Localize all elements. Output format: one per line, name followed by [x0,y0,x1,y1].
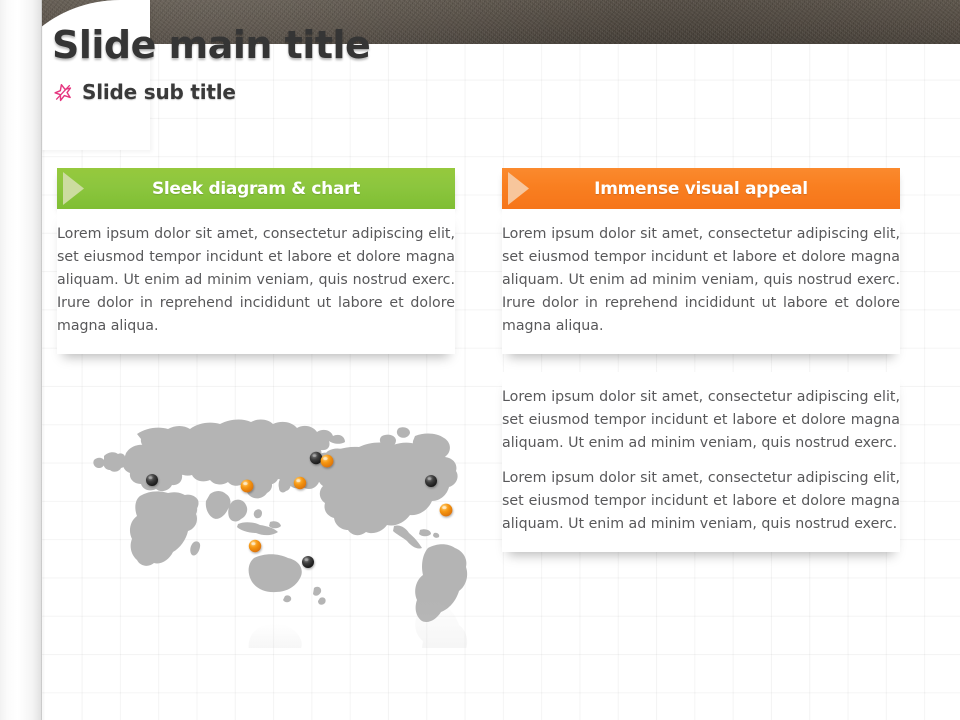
title-block: Slide main title Slide sub title [52,26,370,104]
map-pin-dark [310,452,322,464]
map-pin-orange [294,477,306,489]
right-text-card-1: Lorem ipsum dolor sit amet, consectetur … [502,209,900,354]
map-pin-dark [302,556,314,568]
world-map [42,398,488,648]
left-banner[interactable]: Sleek diagram & chart [57,168,455,209]
map-pin-orange [249,540,261,552]
map-pin-dark [146,474,158,486]
card-gap [502,354,900,372]
map-pin-orange [440,504,453,517]
subtitle-row: Slide sub title [52,80,370,104]
page-title: Slide main title [52,26,370,66]
left-column: Sleek diagram & chart Lorem ipsum dolor … [57,168,455,354]
right-card-2-body: Lorem ipsum dolor sit amet, consectetur … [502,372,900,552]
map-pin-dark [425,475,437,487]
right-card-1-body: Lorem ipsum dolor sit amet, consectetur … [502,209,900,354]
right-banner[interactable]: Immense visual appeal [502,168,900,209]
left-paragraph-1: Lorem ipsum dolor sit amet, consectetur … [57,223,455,338]
right-card2-paragraph-1: Lorem ipsum dolor sit amet, consectetur … [502,386,900,455]
slide-canvas: Slide main title Slide sub title Sleek [0,0,960,720]
right-text-card-2: Lorem ipsum dolor sit amet, consectetur … [502,372,900,552]
right-card2-paragraph-2: Lorem ipsum dolor sit amet, consectetur … [502,467,900,536]
star-icon [52,81,74,103]
map-pin-orange [241,480,254,493]
right-column: Immense visual appeal Lorem ipsum dolor … [502,168,900,552]
left-card-body: Lorem ipsum dolor sit amet, consectetur … [57,209,455,354]
page-curl [0,0,42,720]
map-pin-orange [321,455,334,468]
chevron-right-icon [57,168,105,209]
page-subtitle: Slide sub title [82,80,236,104]
chevron-right-icon [502,168,550,209]
right-banner-label: Immense visual appeal [594,179,808,199]
right-card1-paragraph-1: Lorem ipsum dolor sit amet, consectetur … [502,223,900,338]
left-text-card: Lorem ipsum dolor sit amet, consectetur … [57,209,455,354]
left-banner-label: Sleek diagram & chart [152,179,360,199]
